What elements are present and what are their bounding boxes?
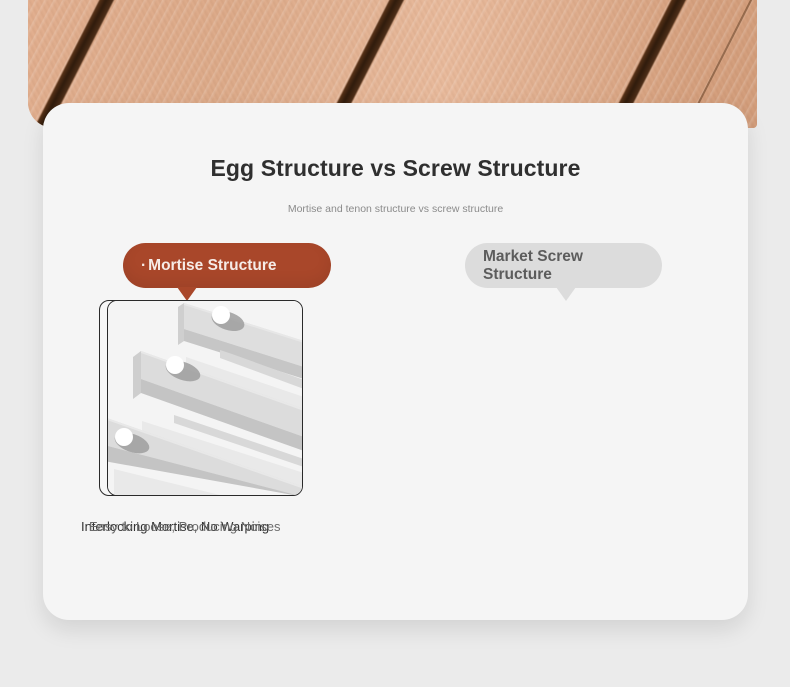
screw-head-icon bbox=[115, 428, 133, 446]
column-market-screw: Market Screw Structure bbox=[447, 243, 747, 288]
badge-mortise-structure[interactable]: · Mortise Structure bbox=[123, 243, 331, 288]
badge-label: Mortise Structure bbox=[148, 257, 276, 274]
badge-label: Market Screw Structure bbox=[483, 248, 583, 283]
page-title: Egg Structure vs Screw Structure bbox=[43, 155, 748, 182]
column-mortise: · Mortise Structure bbox=[123, 243, 423, 288]
screenshot-root: Egg Structure vs Screw Structure Mortise… bbox=[0, 0, 790, 687]
screw-head-icon bbox=[166, 356, 184, 374]
caption-market-screw: Easy to Loose, Producing Noises bbox=[89, 518, 304, 536]
comparison-card: Egg Structure vs Screw Structure Mortise… bbox=[43, 103, 748, 620]
badge-pointer-icon bbox=[556, 287, 576, 301]
screwed-slats-illustration bbox=[108, 301, 303, 496]
figure-screwed-slats bbox=[107, 300, 303, 496]
screw-head-icon bbox=[212, 306, 230, 324]
page-subtitle: Mortise and tenon structure vs screw str… bbox=[43, 203, 748, 215]
badge-pointer-icon bbox=[177, 287, 197, 301]
badge-market-screw-structure[interactable]: Market Screw Structure bbox=[465, 243, 662, 288]
bullet-dot: · bbox=[141, 257, 146, 274]
